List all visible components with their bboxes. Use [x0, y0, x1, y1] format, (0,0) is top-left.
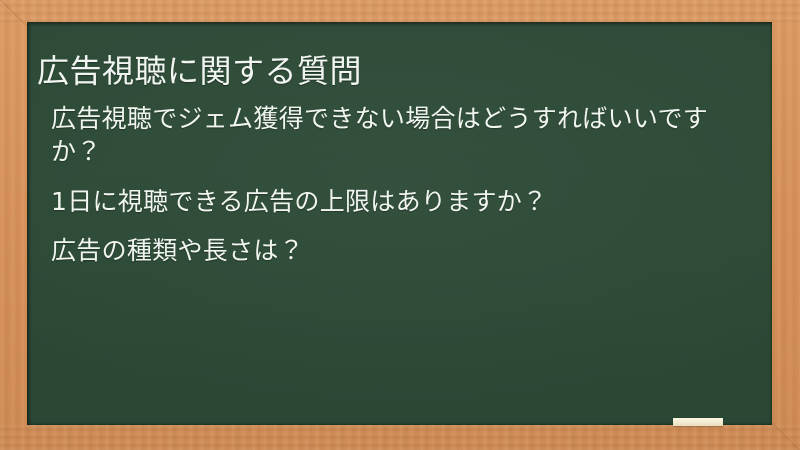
question-item: 広告の種類や長さは？ [51, 234, 754, 267]
question-item: 1日に視聴できる広告の上限はありますか？ [51, 185, 754, 218]
question-list: 広告視聴でジェム獲得できない場合はどうすればいいですか？ 1日に視聴できる広告の… [51, 102, 754, 267]
frame-miter-top-left [0, 0, 29, 28]
frame-bottom-rail-grain [0, 424, 800, 450]
frame-miter-bottom-right [771, 422, 800, 450]
chalkboard-surface: 広告視聴に関する質問 広告視聴でジェム獲得できない場合はどうすればいいですか？ … [27, 22, 772, 425]
board-title: 広告視聴に関する質問 [37, 51, 760, 91]
question-item: 広告視聴でジェム獲得できない場合はどうすればいいですか？ [51, 102, 754, 169]
chalk-stick-icon [673, 418, 723, 426]
frame-top-rail-grain [0, 0, 800, 22]
blackboard-frame: 広告視聴に関する質問 広告視聴でジェム獲得できない場合はどうすればいいですか？ … [0, 0, 800, 450]
